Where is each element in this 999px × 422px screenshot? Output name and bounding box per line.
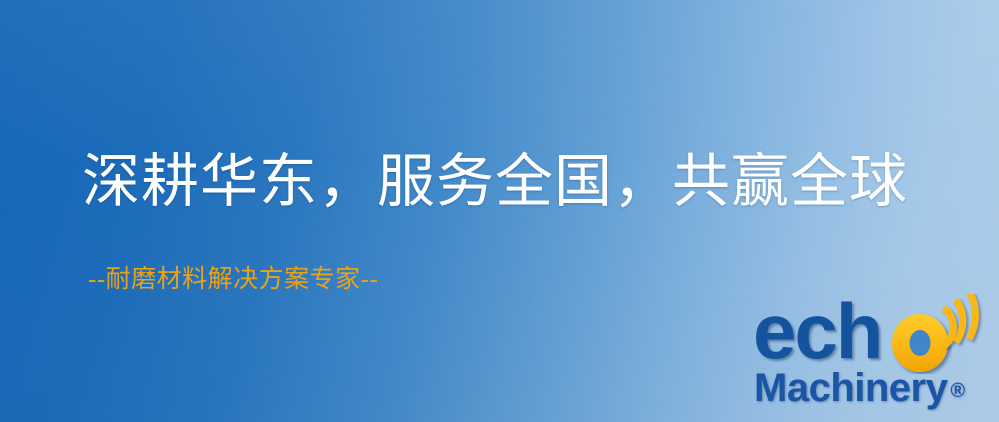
logo-brand-name: Machinery®	[754, 368, 965, 408]
company-logo[interactable]: ech	[750, 298, 999, 422]
banner-subtitle: --耐磨材料解决方案专家--	[88, 266, 378, 294]
registered-trademark-icon: ®	[950, 380, 965, 402]
banner-headline: 深耕华东，服务全国，共赢全球	[82, 152, 908, 213]
logo-wordmark: ech	[750, 298, 999, 374]
logo-brand-text: Machinery	[754, 366, 947, 410]
logo-echo-letters: ech	[753, 292, 881, 370]
signal-waves-icon	[938, 294, 999, 356]
hero-banner: 深耕华东，服务全国，共赢全球 --耐磨材料解决方案专家-- ech	[0, 0, 999, 422]
